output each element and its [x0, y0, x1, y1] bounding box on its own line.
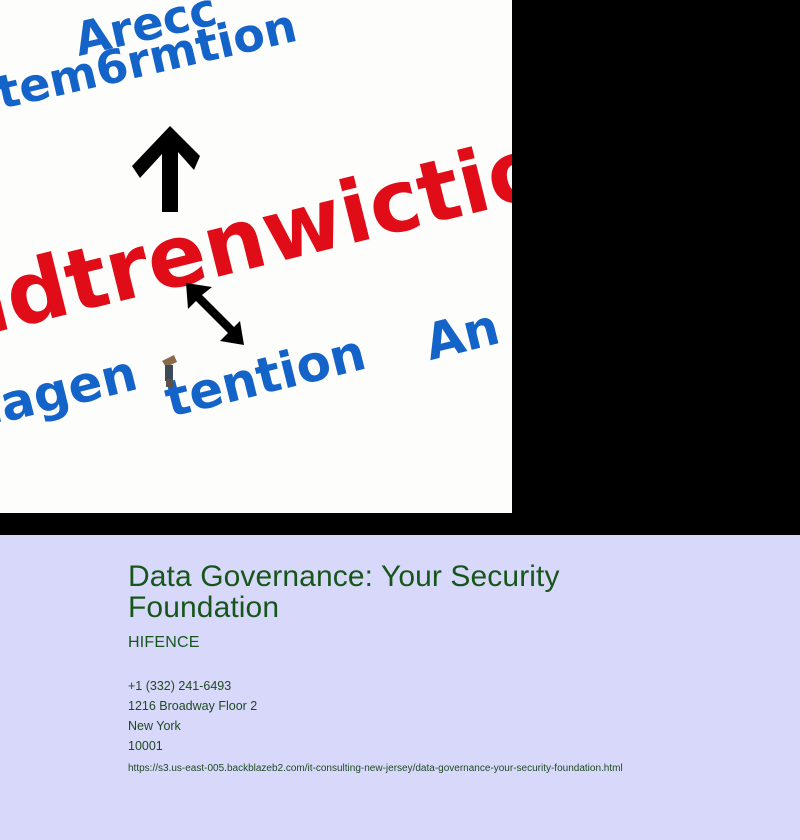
page-title: Data Governance: Your Security Foundatio…: [128, 561, 608, 623]
info-content: Data Governance: Your Security Foundatio…: [128, 561, 768, 776]
source-url-link[interactable]: https://s3.us-east-005.backblazeb2.com/i…: [128, 762, 768, 776]
contact-street: 1216 Broadway Floor 2: [128, 696, 768, 716]
arrow-up-icon: [128, 126, 202, 212]
hero-media-strip: Arecc etem6rmtion ndtrenwictio eagen ten…: [0, 0, 800, 535]
contact-city: New York: [128, 716, 768, 736]
info-panel: Data Governance: Your Security Foundatio…: [0, 535, 800, 840]
brand-name: HIFENCE: [128, 634, 768, 652]
contact-phone[interactable]: +1 (332) 241-6493: [128, 676, 768, 696]
person-figurine-icon: [160, 355, 178, 387]
hero-artwork-image: Arecc etem6rmtion ndtrenwictio eagen ten…: [0, 0, 512, 513]
contact-block: +1 (332) 241-6493 1216 Broadway Floor 2 …: [128, 676, 768, 756]
artwork-word-an: An: [420, 302, 504, 368]
double-arrow-diagonal-icon: [182, 281, 248, 347]
page-root: Arecc etem6rmtion ndtrenwictio eagen ten…: [0, 0, 800, 840]
contact-postal-code: 10001: [128, 736, 768, 756]
artwork-word-eagen: eagen: [0, 348, 142, 438]
